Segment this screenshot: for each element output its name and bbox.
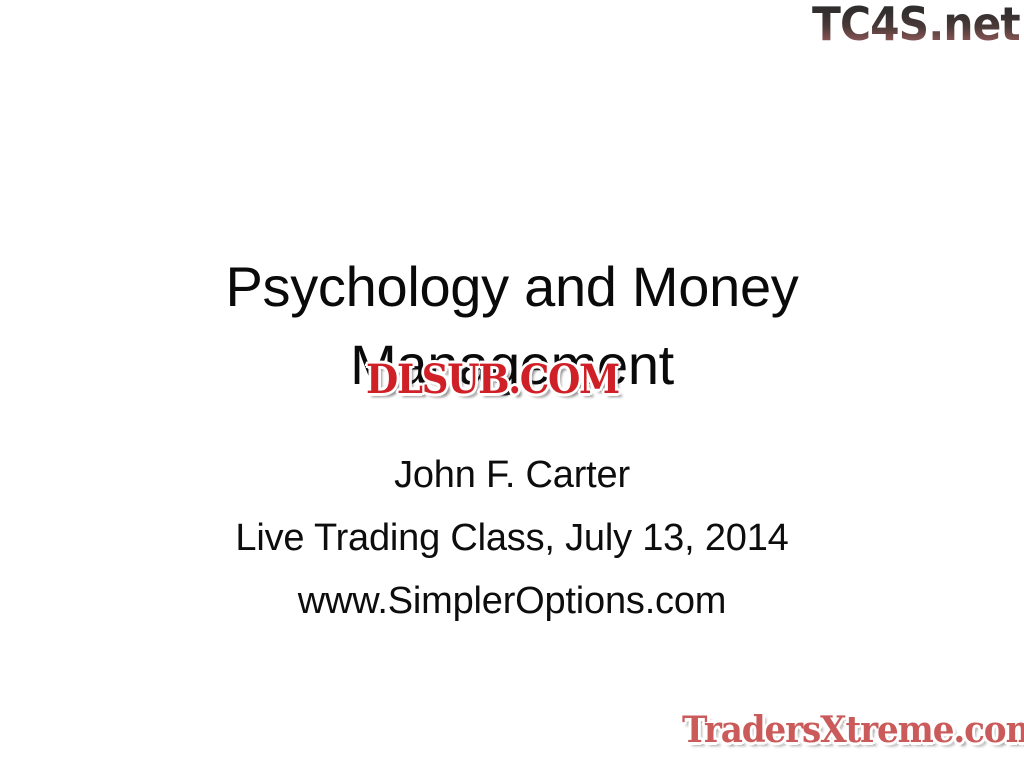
watermark-tradersxtreme: TradersXtreme.com	[682, 708, 1024, 752]
title-line-1: Psychology and Money	[140, 248, 884, 326]
watermark-tc4s: TC4S.net	[812, 0, 1020, 50]
subtitle-line-presenter: John F. Carter	[140, 444, 884, 507]
presentation-slide: TC4S.net Psychology and Money Management…	[0, 0, 1024, 768]
slide-subtitle: John F. Carter Live Trading Class, July …	[140, 444, 884, 633]
subtitle-line-website: www.SimplerOptions.com	[140, 570, 884, 633]
watermark-dlsub: DLSUB.COM	[366, 358, 619, 402]
subtitle-line-event: Live Trading Class, July 13, 2014	[140, 507, 884, 570]
